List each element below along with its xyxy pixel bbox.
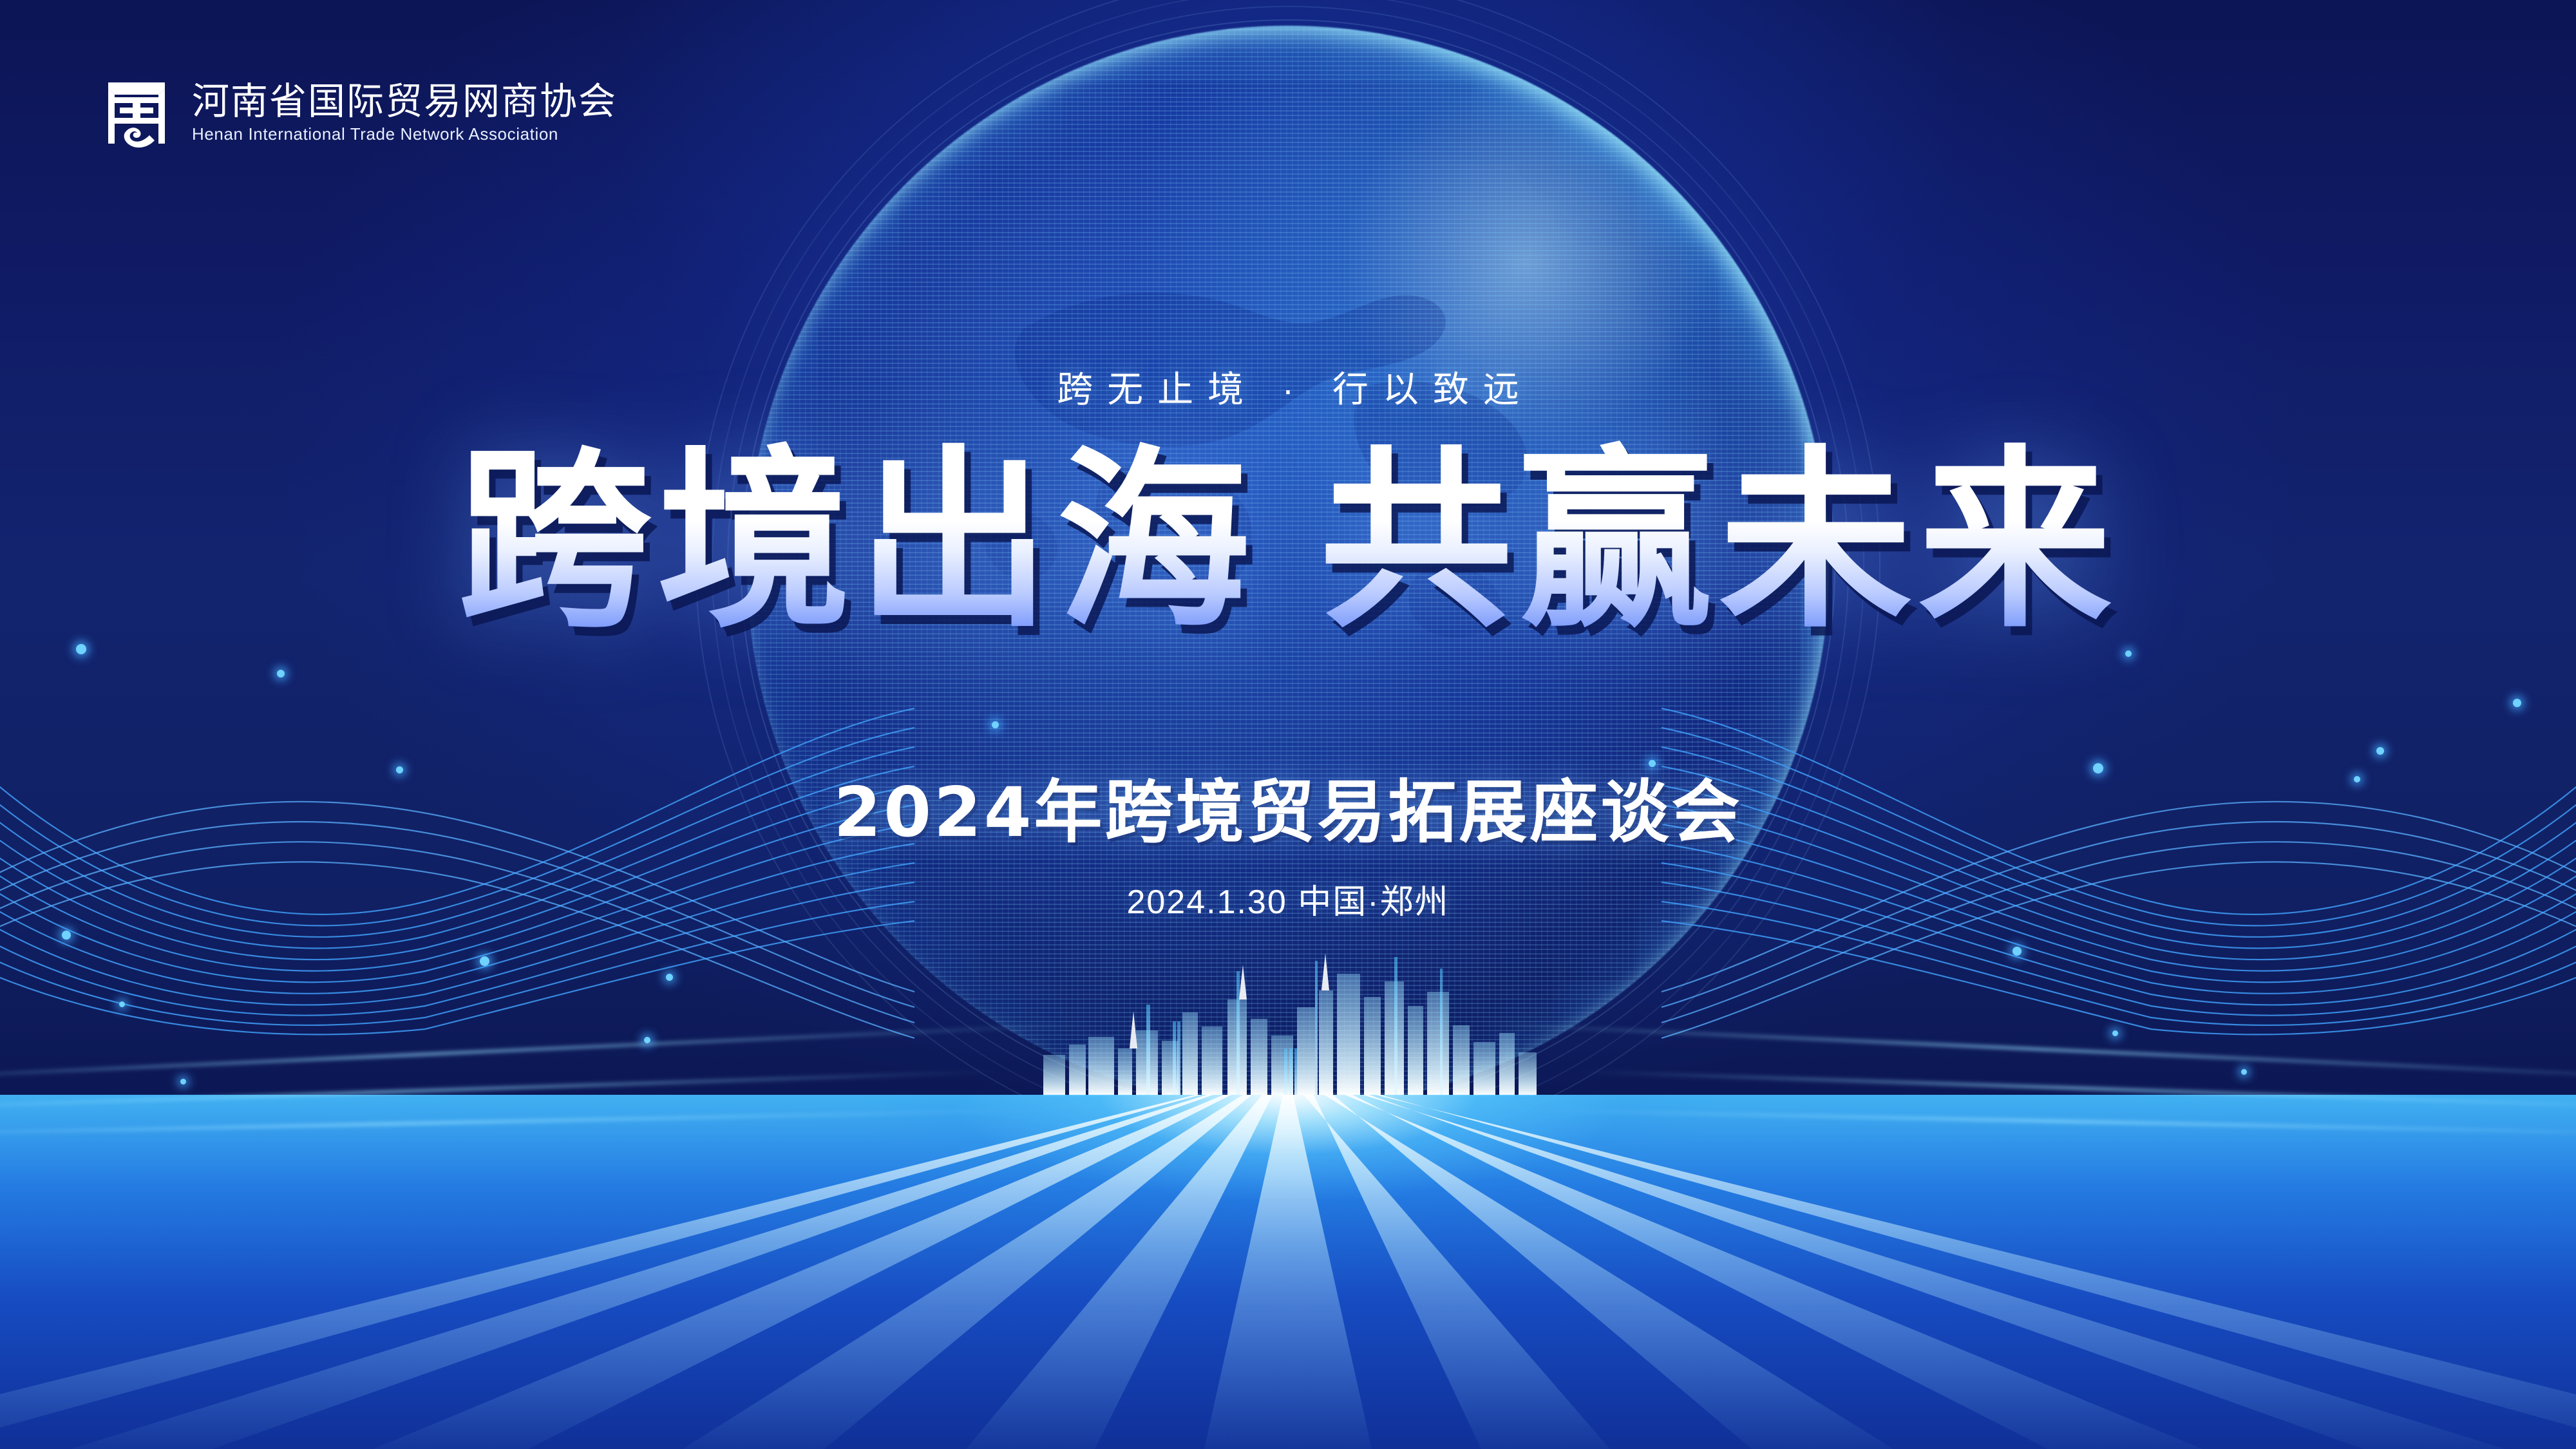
city-skyline-icon [1024,935,1552,1096]
association-logo[interactable]: 河南省国际贸易网商协会 Henan International Trade Ne… [103,77,617,148]
tagline: 跨无止境 · 行以致远 [0,361,2576,413]
headline: 跨境出海 共赢未来 [0,439,2576,644]
event-dateline: 2024.1.30 中国·郑州 [0,875,2576,923]
background-layer [0,0,2576,1449]
logo-name-en: Henan International Trade Network Associ… [192,126,617,142]
perspective-rays-icon [0,1095,2576,1449]
event-subtitle: 2024年跨境贸易拓展座谈会 [0,757,2576,856]
logo-text-block: 河南省国际贸易网商协会 Henan International Trade Ne… [192,83,617,142]
henan-seal-icon [103,77,170,148]
light-streaks-icon [0,1005,2576,1449]
headline-part-1: 跨境出海 [458,439,1256,644]
logo-name-cn: 河南省国际贸易网商协会 [192,83,617,120]
horizon-light-burst-icon [0,1095,2576,1449]
headline-part-2: 共赢未来 [1320,439,2118,644]
poster-canvas: 河南省国际贸易网商协会 Henan International Trade Ne… [0,0,2576,1449]
